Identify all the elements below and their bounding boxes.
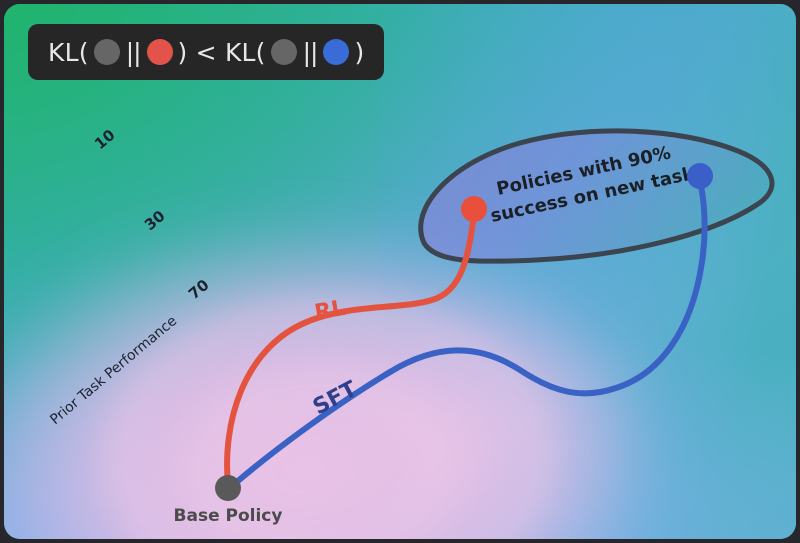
figure-canvas: 10 30 70 Prior Task Performance Policies… — [0, 0, 800, 543]
rl-endpoint-dot[interactable] — [461, 196, 487, 222]
legend-gray-dot-1 — [94, 39, 120, 65]
base-policy-dot[interactable] — [215, 475, 241, 501]
rl-path-label: RL — [313, 296, 348, 326]
kl-legend-sep-2: || — [303, 38, 318, 67]
legend-blue-dot — [323, 39, 349, 65]
plot-background: 10 30 70 Prior Task Performance Policies… — [0, 0, 800, 543]
diagram-svg: 10 30 70 Prior Task Performance Policies… — [0, 0, 800, 543]
kl-legend-mid: ) < KL( — [178, 40, 266, 65]
kl-legend-box: KL( || ) < KL( || ) — [28, 24, 384, 80]
sft-endpoint-dot[interactable] — [687, 163, 713, 189]
legend-gray-dot-2 — [271, 39, 297, 65]
kl-legend-suffix: ) — [354, 40, 364, 65]
kl-legend-sep-1: || — [126, 38, 141, 67]
legend-red-dot — [147, 39, 173, 65]
kl-legend-prefix: KL( — [48, 40, 89, 65]
base-policy-label: Base Policy — [174, 506, 283, 526]
